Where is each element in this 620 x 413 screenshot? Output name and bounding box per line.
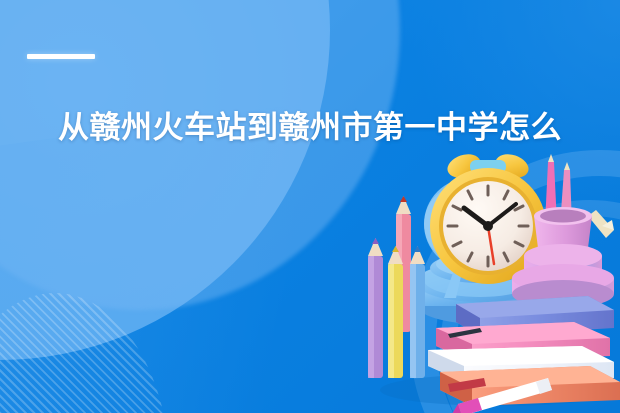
study-desk-illustration: [352, 152, 620, 413]
colored-pencils: [368, 196, 425, 378]
page-title: 从赣州火车站到赣州市第一中学怎么: [58, 108, 588, 148]
colored-pencil-purple: [368, 238, 383, 378]
colored-pencil-blue: [410, 246, 425, 378]
promo-banner: 从赣州火车站到赣州市第一中学怎么: [0, 0, 620, 413]
accent-rule: [27, 54, 95, 59]
colored-pencil-yellow: [388, 246, 403, 378]
